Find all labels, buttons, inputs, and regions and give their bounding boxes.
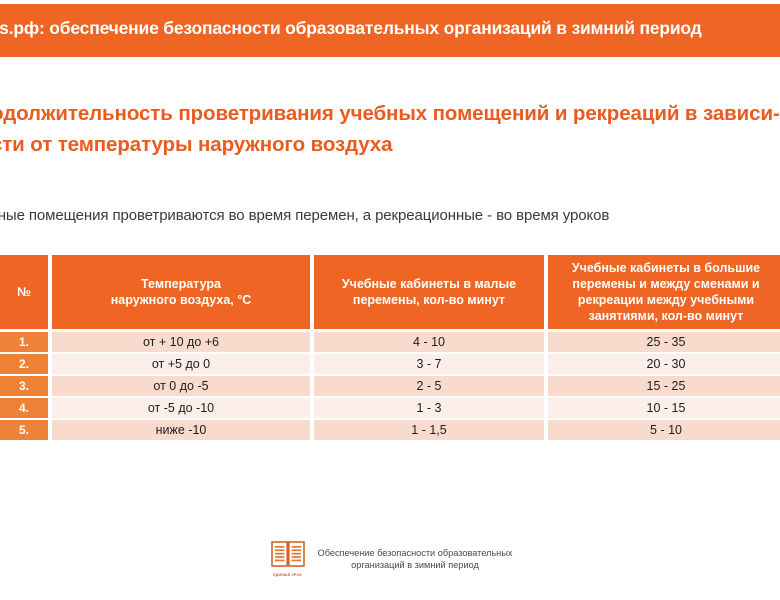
column-header-big-break: Учебные кабинеты в большие перемены и ме… — [548, 255, 780, 329]
column-header-big-break-line-2: перемены и между сменами и — [552, 276, 780, 292]
cell-big-break: 25 - 35 — [548, 332, 780, 352]
page-title-line-2: мости от температуры наружного воздуха — [0, 129, 780, 160]
cell-small-break: 1 - 3 — [314, 398, 544, 418]
column-header-small-break-line-1: Учебные кабинеты в малые — [342, 276, 516, 292]
table-row: 1. от + 10 до +6 4 - 10 25 - 35 — [0, 332, 780, 352]
footer: ЕДИНЫЙ УРОК Обеспечение безопасности обр… — [0, 541, 780, 577]
cell-small-break: 2 - 5 — [314, 376, 544, 396]
footer-text-line-2: организаций в зимний период — [318, 559, 513, 571]
ventilation-table: № Температура наружного воздуха, °С Учеб… — [0, 255, 780, 442]
page-title-line-1: Продолжительность проветривания учебных … — [0, 98, 780, 129]
cell-number: 3. — [0, 376, 48, 396]
cell-number: 2. — [0, 354, 48, 374]
column-header-big-break-line-4: занятиями, кол-во минут — [552, 308, 780, 324]
column-header-temperature: Температура наружного воздуха, °С — [52, 255, 310, 329]
cell-big-break: 5 - 10 — [548, 420, 780, 440]
cell-temperature: от +5 до 0 — [52, 354, 310, 374]
table-body: 1. от + 10 до +6 4 - 10 25 - 35 2. от +5… — [0, 332, 780, 440]
column-header-big-break-line-3: рекреации между учебными — [552, 292, 780, 308]
cell-temperature: от -5 до -10 — [52, 398, 310, 418]
table-row: 5. ниже -10 1 - 1,5 5 - 10 — [0, 420, 780, 440]
cell-big-break: 20 - 30 — [548, 354, 780, 374]
column-header-small-break-line-2: перемены, кол-во минут — [342, 292, 516, 308]
cell-temperature: ниже -10 — [52, 420, 310, 440]
column-header-number: № — [0, 255, 48, 329]
cell-small-break: 3 - 7 — [314, 354, 544, 374]
cell-big-break: 15 - 25 — [548, 376, 780, 396]
footer-text-line-1: Обеспечение безопасности образовательных — [318, 547, 513, 559]
top-banner: sc-os.рф: обеспечение безопасности образ… — [0, 4, 780, 57]
table-row: 3. от 0 до -5 2 - 5 15 - 25 — [0, 376, 780, 396]
logo: ЕДИНЫЙ УРОК — [268, 541, 308, 577]
cell-temperature: от + 10 до +6 — [52, 332, 310, 352]
table-header-row: № Температура наружного воздуха, °С Учеб… — [0, 255, 780, 329]
table-row: 2. от +5 до 0 3 - 7 20 - 30 — [0, 354, 780, 374]
page-title: Продолжительность проветривания учебных … — [0, 98, 780, 160]
logo-caption: ЕДИНЫЙ УРОК — [273, 573, 302, 577]
table-row: 4. от -5 до -10 1 - 3 10 - 15 — [0, 398, 780, 418]
column-header-temperature-line-2: наружного воздуха, °С — [111, 292, 252, 308]
cell-big-break: 10 - 15 — [548, 398, 780, 418]
column-header-temperature-line-1: Температура — [111, 276, 252, 292]
cell-small-break: 4 - 10 — [314, 332, 544, 352]
footer-text: Обеспечение безопасности образовательных… — [318, 547, 513, 571]
cell-temperature: от 0 до -5 — [52, 376, 310, 396]
open-book-icon — [271, 541, 305, 572]
cell-number: 5. — [0, 420, 48, 440]
banner-title: sc-os.рф: обеспечение безопасности образ… — [0, 18, 780, 39]
cell-number: 4. — [0, 398, 48, 418]
lead-paragraph: Учебные помещения проветриваются во врем… — [0, 207, 780, 224]
cell-small-break: 1 - 1,5 — [314, 420, 544, 440]
column-header-number-label: № — [17, 284, 31, 300]
column-header-big-break-line-1: Учебные кабинеты в большие — [552, 260, 780, 276]
cell-number: 1. — [0, 332, 48, 352]
column-header-small-break: Учебные кабинеты в малые перемены, кол-в… — [314, 255, 544, 329]
